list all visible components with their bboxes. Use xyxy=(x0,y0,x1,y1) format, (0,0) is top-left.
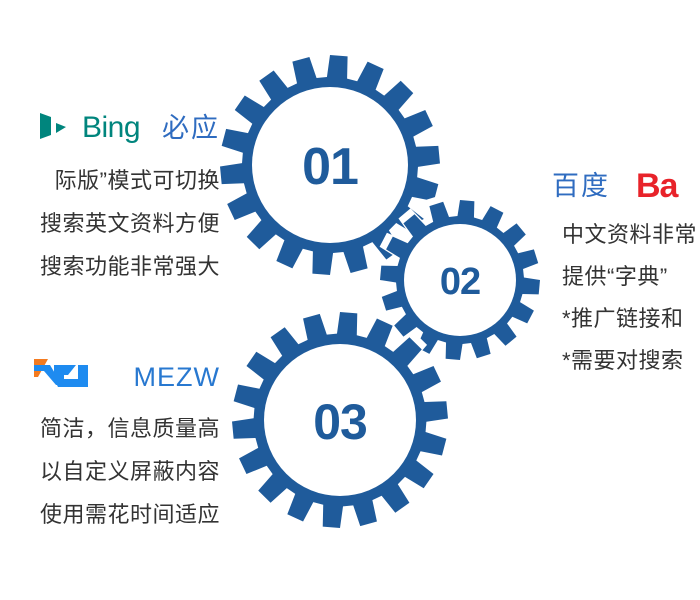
mezw-wordmark: MEZW xyxy=(134,364,220,391)
list-item: 搜索功能非常强大 xyxy=(0,256,220,278)
list-item: 提供“字典” xyxy=(562,266,700,288)
bing-cn-name: 必应 xyxy=(162,115,220,142)
list-item: *推广链接和 xyxy=(562,308,700,330)
mezw-bullet-list: 简洁，信息质量高 以自定义屏蔽内容 使用需花时间适应 xyxy=(0,418,220,526)
panel-mezw: MEZW 简洁，信息质量高 以自定义屏蔽内容 使用需花时间适应 xyxy=(0,358,220,526)
gear-01-number: 01 xyxy=(302,138,358,196)
mezw-logo-mark xyxy=(34,357,98,398)
bing-logo-mark xyxy=(38,109,72,148)
bing-wordmark: Bing xyxy=(82,113,140,143)
list-item: 搜索英文资料方便 xyxy=(0,213,220,235)
list-item: 以自定义屏蔽内容 xyxy=(0,461,220,483)
gear-02-number: 02 xyxy=(440,261,480,303)
gear-03: 03 xyxy=(225,305,455,535)
bing-bullet-list: 际版”模式可切换 搜索英文资料方便 搜索功能非常强大 xyxy=(0,170,220,278)
list-item: *需要对搜索 xyxy=(562,350,700,372)
baidu-logo-mark: Ba xyxy=(636,169,677,203)
gear-03-number: 03 xyxy=(313,394,367,450)
bing-brand-row: Bing 必应 xyxy=(0,108,220,148)
list-item: 简洁，信息质量高 xyxy=(0,418,220,440)
baidu-brand-row: 百度 Ba xyxy=(552,168,700,204)
panel-baidu: 百度 Ba 中文资料非常 提供“字典” *推广链接和 *需要对搜索 xyxy=(552,168,700,372)
list-item: 使用需花时间适应 xyxy=(0,504,220,526)
panel-bing: Bing 必应 际版”模式可切换 搜索英文资料方便 搜索功能非常强大 xyxy=(0,108,220,278)
list-item: 际版”模式可切换 xyxy=(0,170,220,192)
list-item: 中文资料非常 xyxy=(562,224,700,246)
mezw-brand-row: MEZW xyxy=(0,358,220,396)
baidu-bullet-list: 中文资料非常 提供“字典” *推广链接和 *需要对搜索 xyxy=(552,224,700,372)
infographic-canvas: 010203 Bing 必应 际版”模式可切换 搜索英文资料方便 搜索功能非常强… xyxy=(0,0,700,600)
baidu-cn-name: 百度 xyxy=(552,173,610,200)
gear-02: 02 xyxy=(373,193,547,367)
